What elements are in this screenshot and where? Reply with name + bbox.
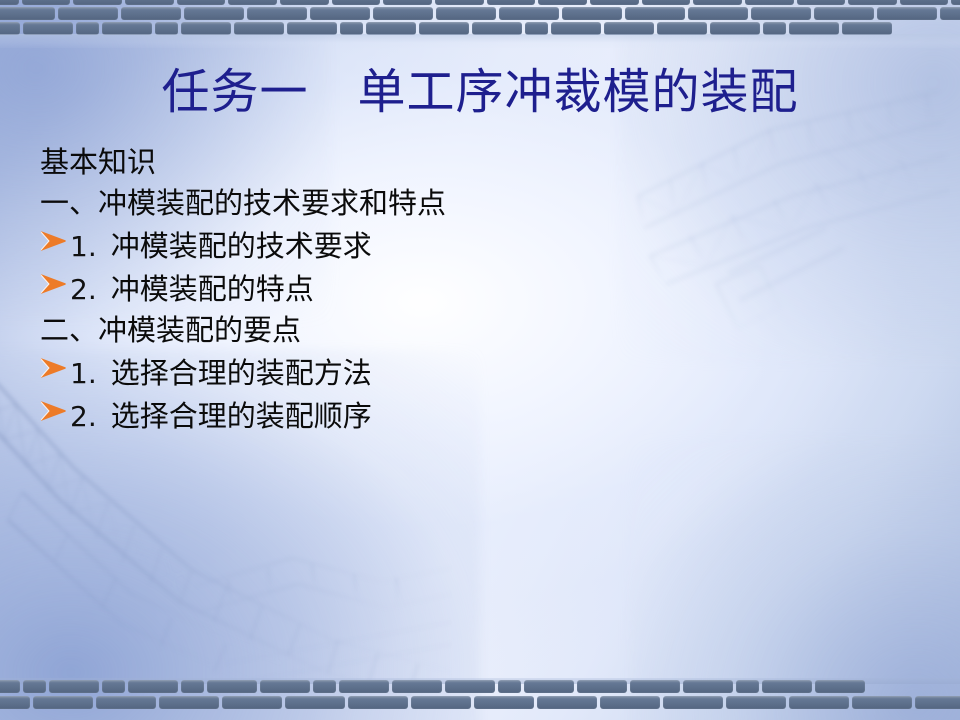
body-line-number: 1.	[70, 360, 97, 388]
body-line: 一、冲模装配的技术要求和特点	[38, 189, 858, 218]
body-line-text: 二、冲模装配的要点	[40, 316, 301, 345]
body-text-block: 基本知识一、冲模装配的技术要求和特点1.冲模装配的技术要求2.冲模装配的特点二、…	[38, 148, 858, 443]
body-line-text: 基本知识	[40, 148, 156, 177]
body-line-number: 2.	[70, 403, 97, 431]
body-line-number: 1.	[70, 233, 97, 261]
body-line-text: 冲模装配的特点	[111, 275, 314, 304]
arrow-bullet-icon	[38, 355, 68, 381]
body-line-text: 一、冲模装配的技术要求和特点	[40, 189, 446, 218]
arrow-bullet-icon	[38, 228, 68, 254]
body-line-text: 冲模装配的技术要求	[111, 232, 372, 261]
arrow-bullet-icon	[38, 271, 68, 297]
body-line-text: 选择合理的装配顺序	[111, 402, 372, 431]
body-line: 2.冲模装配的特点	[38, 273, 858, 304]
body-line-text: 选择合理的装配方法	[111, 359, 372, 388]
presentation-slide: 任务一 单工序冲裁模的装配 基本知识一、冲模装配的技术要求和特点1.冲模装配的技…	[0, 0, 960, 720]
body-line: 1.冲模装配的技术要求	[38, 230, 858, 261]
body-line: 1.选择合理的装配方法	[38, 357, 858, 388]
page-title: 任务一 单工序冲裁模的装配	[0, 66, 960, 120]
body-line: 基本知识	[38, 148, 858, 177]
body-line: 二、冲模装配的要点	[38, 316, 858, 345]
body-line: 2.选择合理的装配顺序	[38, 400, 858, 431]
slide-content: 任务一 单工序冲裁模的装配 基本知识一、冲模装配的技术要求和特点1.冲模装配的技…	[0, 0, 960, 720]
arrow-bullet-icon	[38, 398, 68, 424]
body-line-number: 2.	[70, 276, 97, 304]
